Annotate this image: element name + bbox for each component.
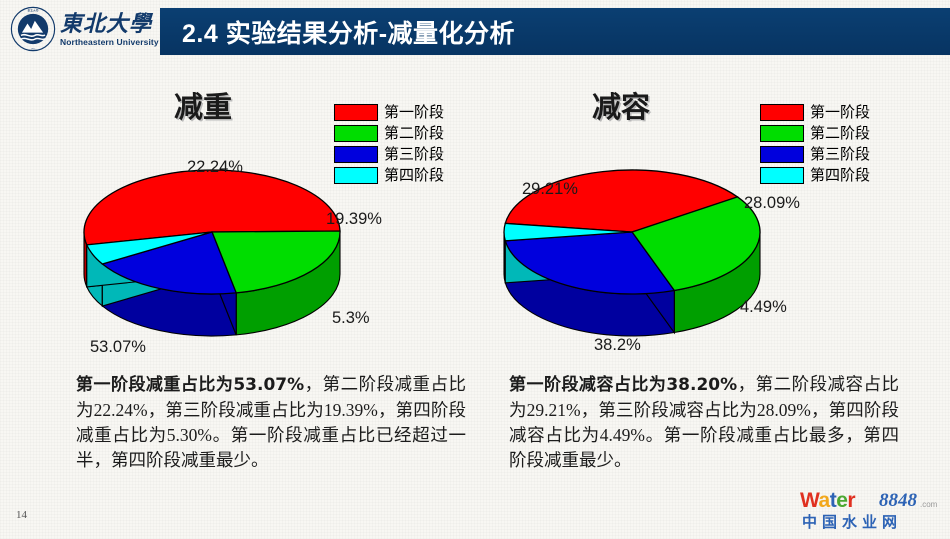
caption-weight-reduction: 第一阶段减重占比为53.07%，第二阶段减重占比为22.24%，第三阶段减重占比… bbox=[76, 372, 466, 474]
legend-label: 第一阶段 bbox=[810, 105, 870, 120]
chart-panel-weight-reduction: 减重 第一阶段 第二阶段 第三阶段 第四阶段 22.24% 19.39% 5.3… bbox=[62, 78, 492, 363]
pie-chart-3d bbox=[482, 104, 782, 344]
slice-value-label: 5.3% bbox=[332, 309, 370, 328]
logo-wordmark-chinese: 東北大學 bbox=[60, 6, 152, 38]
chart-panel-volume-reduction: 减容 第一阶段 第二阶段 第三阶段 第四阶段 29.21% 28.09% 4.4… bbox=[482, 78, 912, 363]
neu-seal-icon: 東北大學 1923 bbox=[10, 6, 56, 52]
slice-value-label: 29.21% bbox=[522, 180, 578, 199]
slice-value-label: 22.24% bbox=[187, 158, 243, 177]
watermark-word: Water bbox=[800, 489, 855, 513]
legend-label: 第四阶段 bbox=[384, 168, 444, 183]
caption-highlight: 第一阶段减重占比为53.07% bbox=[76, 375, 304, 395]
legend-label: 第一阶段 bbox=[384, 105, 444, 120]
watermark-dotcom: .com bbox=[920, 500, 937, 509]
pie-chart-3d bbox=[62, 104, 362, 344]
caption-highlight: 第一阶段减容占比为38.20% bbox=[509, 375, 737, 395]
water8848-watermark: Water 8848 .com 中国水业网 bbox=[796, 487, 942, 533]
watermark-letter: r bbox=[847, 489, 855, 512]
watermark-number: 8848 bbox=[879, 490, 917, 512]
slice-value-label: 28.09% bbox=[744, 194, 800, 213]
watermark-letter: e bbox=[836, 489, 847, 512]
slice-value-label: 38.2% bbox=[594, 336, 641, 355]
slice-value-label: 19.39% bbox=[326, 210, 382, 229]
legend-label: 第二阶段 bbox=[810, 126, 870, 141]
legend-label: 第三阶段 bbox=[810, 147, 870, 162]
caption-volume-reduction: 第一阶段减容占比为38.20%，第二阶段减容占比为29.21%，第三阶段减容占比… bbox=[509, 372, 899, 474]
legend-label: 第二阶段 bbox=[384, 126, 444, 141]
page-title: 2.4 实验结果分析-减量化分析 bbox=[182, 14, 515, 50]
watermark-chinese: 中国水业网 bbox=[802, 511, 902, 532]
legend-label: 第三阶段 bbox=[384, 147, 444, 162]
legend-label: 第四阶段 bbox=[810, 168, 870, 183]
slice-value-label: 4.49% bbox=[740, 298, 787, 317]
university-logo: 東北大學 1923 東北大學 Northeastern University bbox=[6, 4, 158, 56]
slide-header-bar: 2.4 实验结果分析-减量化分析 bbox=[160, 8, 950, 55]
logo-wordmark-english: Northeastern University bbox=[60, 37, 159, 47]
page-number: 14 bbox=[16, 509, 27, 521]
watermark-letter: a bbox=[819, 489, 830, 512]
svg-text:東北大學: 東北大學 bbox=[27, 9, 38, 13]
watermark-letter: W bbox=[800, 489, 819, 512]
slice-value-label: 53.07% bbox=[90, 338, 146, 357]
